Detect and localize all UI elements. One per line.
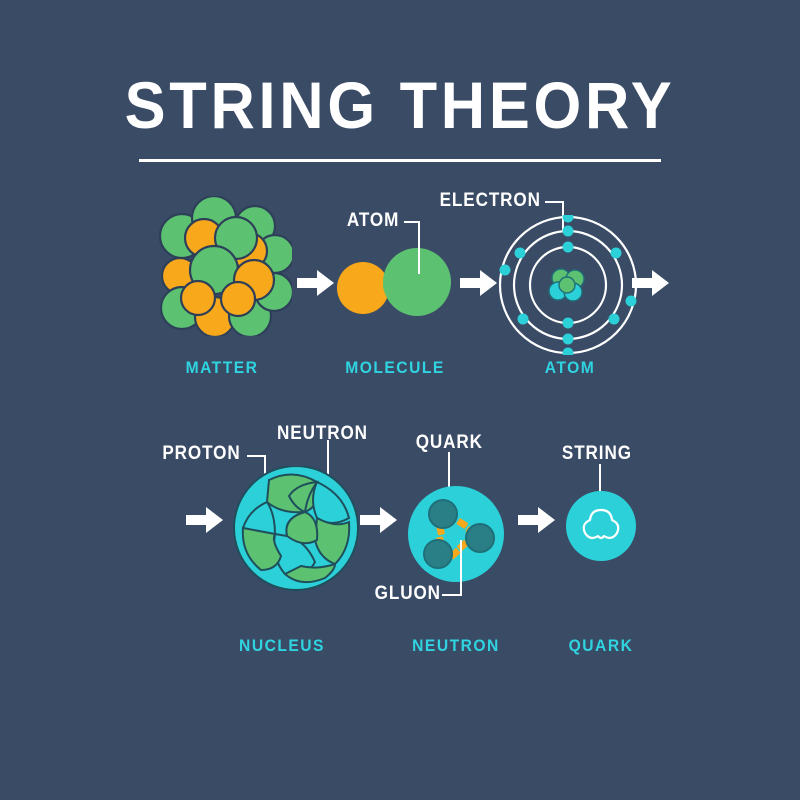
right-arrow-icon	[632, 268, 670, 298]
callout-electron: ELECTRON	[440, 190, 541, 212]
matter-balls-icon	[152, 196, 292, 336]
right-arrow-icon	[360, 505, 398, 535]
callout-string: STRING	[562, 443, 632, 465]
leader-atom-vertical	[418, 221, 420, 274]
callout-quark: QUARK	[416, 432, 483, 454]
caption-matter: MATTER	[158, 358, 287, 378]
right-arrow-icon	[518, 505, 556, 535]
nucleus-ball	[231, 466, 361, 591]
matter-cluster	[152, 196, 292, 336]
callout-neutron: NEUTRON	[277, 423, 368, 445]
page-title: STRING THEORY	[28, 72, 772, 138]
caption-molecule: MOLECULE	[331, 358, 460, 378]
quark-string-disc	[565, 490, 637, 562]
leader-gluon-vertical	[460, 540, 462, 595]
callout-proton: PROTON	[162, 443, 240, 465]
caption-quark: QUARK	[541, 636, 661, 656]
neutron-icon	[406, 484, 506, 584]
atom-icon	[495, 215, 645, 355]
neutron-disc	[406, 484, 506, 584]
leader-gluon-horizontal	[442, 594, 462, 596]
title-block: STRING THEORY	[0, 72, 800, 138]
atom-orbits	[495, 215, 645, 355]
nucleus-icon	[231, 466, 361, 591]
title-divider	[139, 159, 661, 162]
molecule-icon	[337, 240, 452, 330]
right-arrow-icon	[297, 268, 335, 298]
caption-nucleus: NUCLEUS	[222, 636, 342, 656]
molecule-shape	[337, 240, 452, 330]
caption-atom: ATOM	[506, 358, 635, 378]
caption-neutron: NEUTRON	[396, 636, 516, 656]
callout-gluon: GLUON	[375, 583, 441, 605]
callout-atom: ATOM	[347, 210, 399, 232]
right-arrow-icon	[460, 268, 498, 298]
infographic-canvas: STRING THEORY	[0, 0, 800, 800]
string-icon	[565, 490, 637, 562]
right-arrow-icon	[186, 505, 224, 535]
